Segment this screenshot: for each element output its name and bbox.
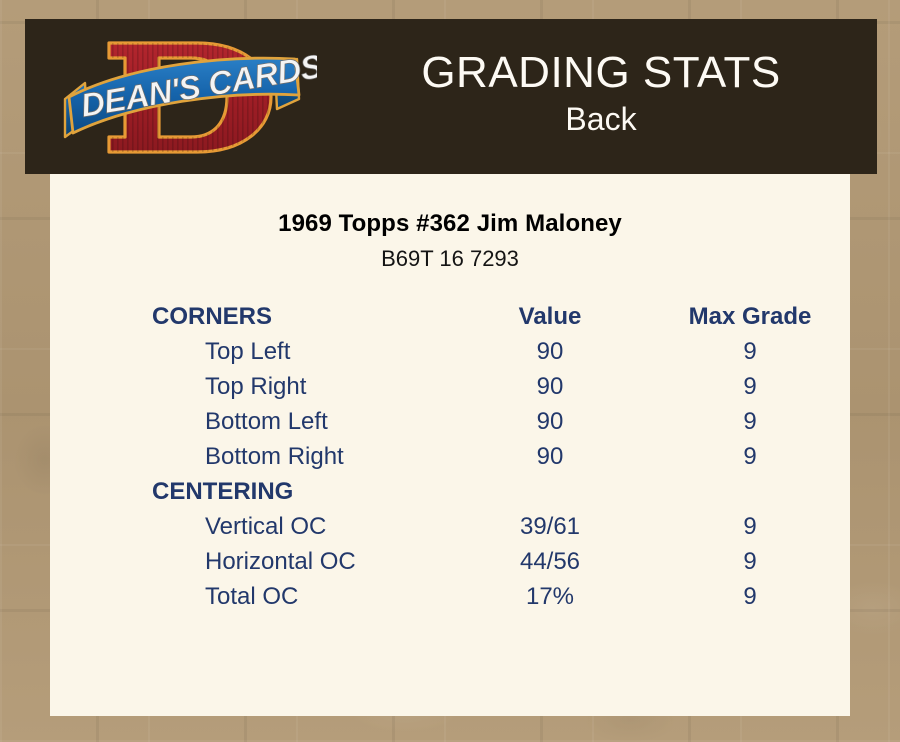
row-value: 17% xyxy=(450,579,650,614)
row-label: Total OC xyxy=(50,579,450,614)
row-value: 90 xyxy=(450,369,650,404)
table-row: Bottom Left 90 9 xyxy=(50,404,850,439)
grading-stats-table: CORNERS Value Max Grade Top Left 90 9 To… xyxy=(50,299,850,614)
table-row: Top Left 90 9 xyxy=(50,334,850,369)
card-code: B69T 16 7293 xyxy=(50,246,850,272)
row-label: Top Right xyxy=(50,369,450,404)
row-label: Top Left xyxy=(50,334,450,369)
row-label: Bottom Left xyxy=(50,404,450,439)
section-title-centering: CENTERING xyxy=(50,474,450,509)
table-row: Top Right 90 9 xyxy=(50,369,850,404)
table-row: Horizontal OC 44/56 9 xyxy=(50,544,850,579)
table-row: Vertical OC 39/61 9 xyxy=(50,509,850,544)
row-max-grade: 9 xyxy=(650,334,850,369)
row-max-grade: 9 xyxy=(650,544,850,579)
row-value: 39/61 xyxy=(450,509,650,544)
table-row: Total OC 17% 9 xyxy=(50,579,850,614)
grading-stats-body: CORNERS Value Max Grade Top Left 90 9 To… xyxy=(50,299,850,614)
row-max-grade: 9 xyxy=(650,579,850,614)
row-label: Bottom Right xyxy=(50,439,450,474)
column-header-value: Value xyxy=(450,299,650,334)
row-max-grade: 9 xyxy=(650,439,850,474)
section-header-corners: CORNERS Value Max Grade xyxy=(50,299,850,334)
page-title: GRADING STATS xyxy=(421,50,780,96)
row-value: 90 xyxy=(450,439,650,474)
row-value: 90 xyxy=(450,334,650,369)
row-max-grade: 9 xyxy=(650,404,850,439)
row-label: Horizontal OC xyxy=(50,544,450,579)
row-max-grade: 9 xyxy=(650,369,850,404)
card-title: 1969 Topps #362 Jim Maloney xyxy=(50,210,850,238)
column-header-max-grade: Max Grade xyxy=(650,299,850,334)
row-value: 44/56 xyxy=(450,544,650,579)
header-titles: GRADING STATS Back xyxy=(325,19,877,174)
row-value: 90 xyxy=(450,404,650,439)
row-max-grade: 9 xyxy=(650,509,850,544)
section-title-corners: CORNERS xyxy=(50,299,450,334)
table-row: Bottom Right 90 9 xyxy=(50,439,850,474)
row-label: Vertical OC xyxy=(50,509,450,544)
content-panel: 1969 Topps #362 Jim Maloney B69T 16 7293… xyxy=(50,174,850,716)
section-header-centering: CENTERING xyxy=(50,474,850,509)
header-bar: DEAN'S CARDS GRADING STATS Back xyxy=(25,19,877,174)
deans-cards-logo[interactable]: DEAN'S CARDS xyxy=(47,25,317,170)
page-subtitle: Back xyxy=(565,99,636,139)
